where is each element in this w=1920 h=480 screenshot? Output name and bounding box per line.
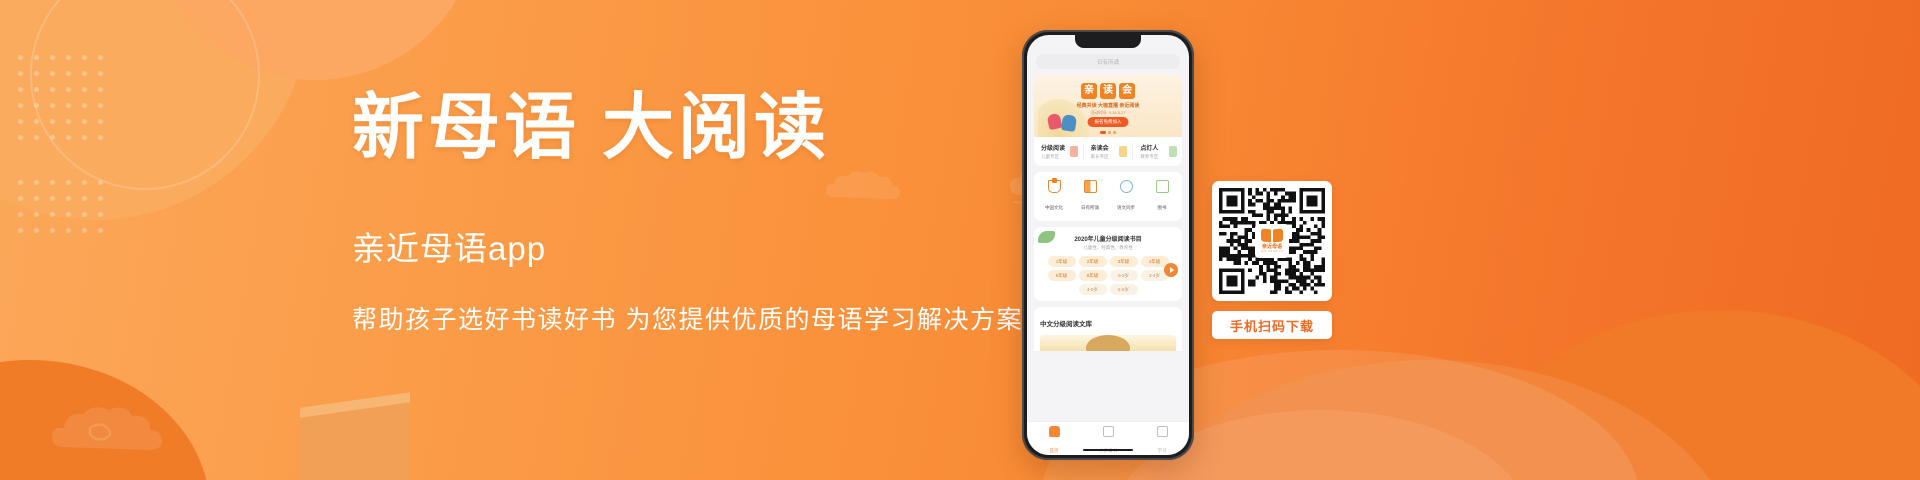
promo-banner-image: 亲 读 会 经典共读 大咖直播 亲近阅读 活动时间: 4.16-5.27 报名免… [1034, 75, 1182, 137]
decorative-circle-top-left-2 [150, 0, 480, 80]
study-icon [1157, 426, 1168, 437]
sync-icon [1120, 180, 1133, 193]
scan-download-button[interactable]: 手机扫码下载 [1212, 311, 1332, 339]
decorative-circle-bottom-left [0, 360, 210, 480]
home-icon [1049, 426, 1060, 437]
quick-icon-library[interactable]: 图书 [1144, 180, 1180, 214]
decorative-cube-top [300, 392, 410, 457]
qr-center-logo: 亲近母语 QIN JIN MU YU [1255, 224, 1289, 258]
page-title: 新母语 大阅读 [352, 92, 1012, 164]
decorative-arc-bottom-right-2 [1120, 360, 1740, 480]
quick-icon-label: 日有所诵 [1081, 205, 1099, 210]
age-chip[interactable]: 0-3岁 [1110, 270, 1138, 281]
book-icon [1070, 146, 1078, 157]
promo-detail: 活动时间: 4.16-5.27 [1090, 110, 1125, 116]
section-parent-club[interactable]: 亲读会 家长专区 [1084, 143, 1134, 160]
promo-title-char-2: 读 [1100, 83, 1116, 99]
book-icon [1084, 180, 1097, 193]
decorative-cube [300, 402, 410, 480]
promo-title: 亲 读 会 [1081, 83, 1135, 99]
library-title: 中文分级阅读文库 [1040, 321, 1092, 328]
app-quick-icons-card: 中国文化 日有所诵 语文同步 图书 [1034, 172, 1182, 221]
booklist-title: 2020年儿童分级阅读书目 [1039, 234, 1177, 243]
quick-icon-recite[interactable]: 日有所诵 [1072, 180, 1108, 214]
grade-chip-group: 1年级 2年级 3年级 4年级 5年级 6年级 0-3岁 3-4岁 4-5岁 5… [1039, 256, 1177, 295]
app-name-label: 亲近母语app [352, 222, 1012, 270]
promo-join-button[interactable]: 报名免费加入 [1088, 117, 1129, 127]
section-teacher-zone[interactable]: 点灯人 教师专区 [1133, 143, 1182, 160]
qr-logo-subtext: QIN JIN MU YU [1261, 250, 1283, 253]
section-graded-reading[interactable]: 分级阅读 儿童专区 [1034, 143, 1084, 160]
grade-chip[interactable]: 3年级 [1110, 256, 1138, 267]
promo-subtitle: 经典共读 大咖直播 亲近阅读 [1077, 102, 1140, 109]
banner-text-column: 新母语 大阅读 亲近母语app 帮助孩子选好书读好书 为您提供优质的母语学习解决… [352, 92, 1012, 336]
book-icon [1119, 146, 1127, 157]
decorative-ring [30, 0, 260, 190]
promo-title-char-3: 会 [1119, 83, 1135, 99]
age-chip[interactable]: 4-5岁 [1079, 284, 1107, 295]
quick-icon-sync[interactable]: 语文同步 [1108, 180, 1144, 214]
promo-banner: 新母语 大阅读 亲近母语app 帮助孩子选好书读好书 为您提供优质的母语学习解决… [0, 0, 1920, 480]
reading-icon [1103, 426, 1114, 437]
culture-icon [1048, 180, 1061, 193]
nav-tab-label: 学习 [1158, 448, 1167, 453]
book-icon [1169, 146, 1177, 157]
qr-logo-text: 亲近母语 [1262, 243, 1282, 250]
tagline-text: 帮助孩子选好书读好书 为您提供优质的母语学习解决方案 [352, 300, 1012, 336]
qr-code[interactable]: 亲近母语 QIN JIN MU YU [1212, 181, 1332, 301]
library-icon [1156, 180, 1169, 193]
quick-icon-label: 语文同步 [1117, 205, 1135, 210]
phone-screen: 日有所诵 亲 读 会 经典共读 大咖直播 亲近阅读 活动时间: 4.16-5.2… [1027, 35, 1189, 455]
phone-mockup: 日有所诵 亲 读 会 经典共读 大咖直播 亲近阅读 活动时间: 4.16-5.2… [1022, 30, 1194, 460]
decorative-circle-top-left [0, 0, 310, 220]
nav-tab-home[interactable]: 首页 [1027, 426, 1081, 455]
qr-download-block: 亲近母语 QIN JIN MU YU 手机扫码下载 [1212, 181, 1332, 339]
app-library-card[interactable]: 中文分级阅读文库 [1034, 307, 1182, 351]
quick-icons-row: 中国文化 日有所诵 语文同步 图书 [1034, 172, 1182, 221]
age-chip[interactable]: 5-6岁 [1110, 284, 1138, 295]
cloud-icon-2 [40, 395, 190, 465]
decorative-dot-grid-upper [18, 55, 103, 140]
grade-chip[interactable]: 2年级 [1079, 256, 1107, 267]
nav-tab-study[interactable]: 学习 [1135, 426, 1189, 455]
book-logo-icon [1261, 229, 1283, 242]
quick-icon-label: 中国文化 [1045, 205, 1063, 210]
grade-chip[interactable]: 5年级 [1048, 270, 1076, 281]
library-cover-image [1040, 335, 1176, 351]
quick-icon-culture[interactable]: 中国文化 [1036, 180, 1072, 214]
grade-chip[interactable]: 1年级 [1048, 256, 1076, 267]
decorative-dot-grid-lower [18, 180, 103, 233]
app-promo-card[interactable]: 亲 读 会 经典共读 大咖直播 亲近阅读 活动时间: 4.16-5.27 报名免… [1034, 75, 1182, 166]
phone-notch [1075, 35, 1141, 48]
app-search-placeholder: 日有所诵 [1097, 58, 1119, 66]
carousel-dots[interactable] [1100, 131, 1116, 134]
app-booklist-card: 2020年儿童分级阅读书目 儿童性、经典性、教育性 1年级 2年级 3年级 4年… [1034, 227, 1182, 301]
app-search-input[interactable]: 日有所诵 [1036, 54, 1180, 69]
grade-chip[interactable]: 6年级 [1079, 270, 1107, 281]
nav-tab-label: 首页 [1050, 448, 1059, 453]
play-button-icon[interactable] [1164, 263, 1178, 277]
app-section-columns: 分级阅读 儿童专区 亲读会 家长专区 点灯人 教师专区 [1034, 137, 1182, 166]
quick-icon-label: 图书 [1158, 205, 1167, 210]
booklist-subtitle: 儿童性、经典性、教育性 [1039, 245, 1177, 251]
home-indicator [1083, 449, 1133, 452]
promo-title-char-1: 亲 [1081, 83, 1097, 99]
decorative-arc-bottom-right [1460, 310, 1920, 480]
